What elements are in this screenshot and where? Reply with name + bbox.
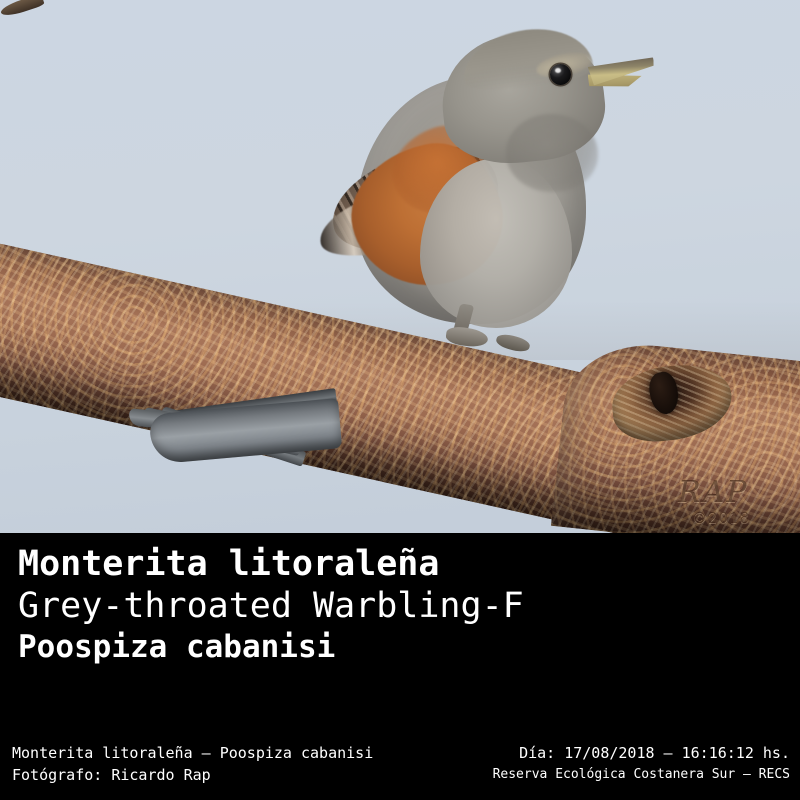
- bird-photo-card: RAP ©2018 Monterita litoraleña Grey-thro…: [0, 0, 800, 800]
- bird-eye: [550, 64, 571, 85]
- bird-subject: [300, 18, 680, 348]
- footer-species-line: Monterita litoraleña – Poospiza cabanisi: [12, 746, 373, 762]
- caption-text-block: Monterita litoraleña Grey-throated Warbl…: [18, 547, 628, 663]
- species-scientific-name: Poospiza cabanisi: [18, 632, 628, 663]
- bird-tail: [110, 386, 350, 516]
- bird-foot-front: [445, 325, 489, 349]
- bird-claw-secondary: [0, 0, 45, 19]
- footer-datetime: Día: 17/08/2018 – 16:16:12 hs.: [493, 746, 790, 762]
- footer-photographer: Fotógrafo: Ricardo Rap: [12, 768, 373, 784]
- bird-grey-throat: [506, 114, 598, 192]
- species-common-name-es: Monterita litoraleña: [18, 547, 628, 582]
- bird-photograph: RAP ©2018: [0, 0, 800, 533]
- footer-left-block: Monterita litoraleña – Poospiza cabanisi…: [12, 746, 373, 784]
- species-common-name-en: Grey-throated Warbling-F: [18, 589, 628, 624]
- bird-eye-glint: [555, 68, 561, 73]
- footer-right-block: Día: 17/08/2018 – 16:16:12 hs. Reserva E…: [493, 746, 790, 781]
- tail-main-feather: [149, 398, 343, 464]
- footer-location: Reserva Ecológica Costanera Sur – RECS: [493, 768, 790, 782]
- footer-bar: Monterita litoraleña – Poospiza cabanisi…: [0, 742, 800, 800]
- bird-foot-rear: [495, 332, 531, 354]
